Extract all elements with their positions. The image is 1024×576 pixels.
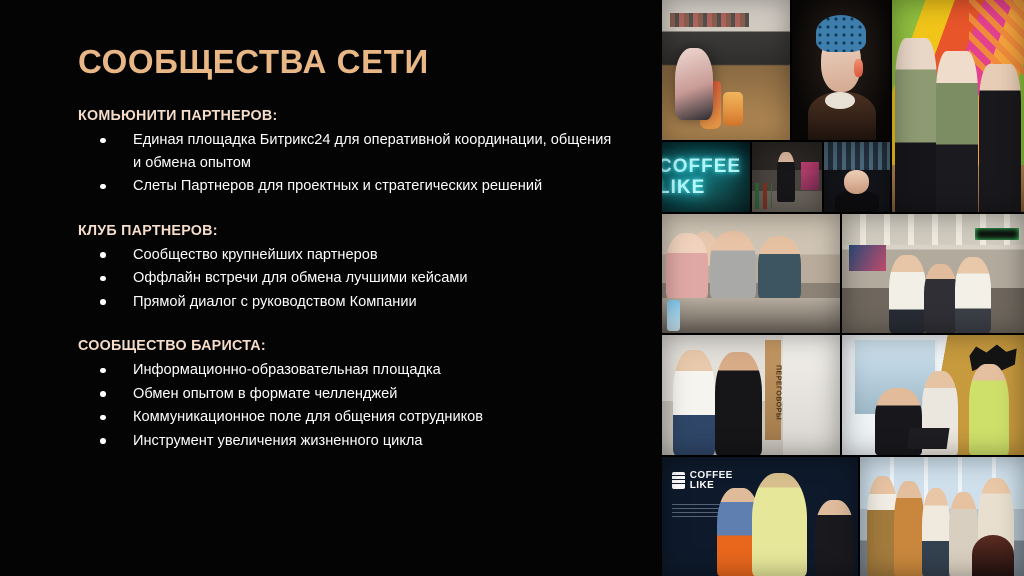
bullet-list: Сообщество крупнейших партнеров Оффлайн … — [78, 244, 636, 314]
photo-image: ПЕРЕГОВОРЫ — [662, 335, 840, 454]
logo-text-line-2: LIKE — [690, 481, 733, 491]
section-spacer — [78, 325, 636, 338]
photo-group-at-table — [662, 214, 840, 333]
photo-image: COFFEE LIKE — [662, 142, 750, 212]
list-item-text: Коммуникационное поле для общения сотруд… — [133, 409, 483, 425]
list-item-text: Информационно-образовательная площадка — [133, 362, 441, 378]
list-item-text: Слеты Партнеров для проектных и стратеги… — [133, 178, 542, 194]
photo-collage: COFFEE LIKE — [662, 0, 1024, 576]
list-item: Слеты Партнеров для проектных и стратеги… — [78, 175, 613, 198]
photo-detail — [889, 255, 925, 334]
photo-image — [892, 0, 1024, 212]
section-barista-community: СООБЩЕСТВО БАРИСТА: Информационно-образо… — [78, 338, 636, 452]
bullet-dot-icon — [100, 276, 106, 282]
photo-shop-interior — [752, 142, 822, 212]
photo-detail — [895, 38, 937, 212]
bullet-dot-icon — [100, 299, 106, 305]
photo-detail — [715, 352, 761, 455]
collage-row: COFFEE LIKE — [662, 0, 1024, 212]
laptop-icon — [906, 428, 949, 449]
photo-detail — [867, 476, 898, 576]
coffee-cup-icon — [672, 472, 685, 489]
photo-image — [662, 214, 840, 333]
list-item-text: Единая площадка Битрикс24 для оперативно… — [133, 132, 611, 171]
photo-detail — [936, 51, 978, 212]
list-item: Сообщество крупнейших партнеров — [78, 244, 613, 267]
photo-image — [792, 0, 890, 140]
photo-detail — [673, 350, 716, 455]
bullet-list: Единая площадка Битрикс24 для оперативно… — [78, 129, 636, 198]
photo-image — [824, 142, 890, 212]
list-item: Коммуникационное поле для общения сотруд… — [78, 406, 613, 429]
photo-neon-sign: COFFEE LIKE — [662, 142, 750, 212]
photo-detail — [815, 500, 854, 576]
list-item-text: Оффлайн встречи для обмена лучшими кейса… — [133, 270, 468, 286]
page-title: СООБЩЕСТВА СЕТИ — [78, 44, 636, 80]
photo-coffee-like-banner: COFFEE LIKE — [662, 457, 858, 576]
photo-detail — [670, 13, 749, 27]
photo-detail — [666, 233, 709, 300]
section-heading: КЛУБ ПАРТНЕРОВ: — [78, 223, 636, 239]
photo-image — [662, 0, 790, 140]
bullet-dot-icon — [100, 184, 106, 190]
coffee-like-logo: COFFEE LIKE — [672, 471, 733, 491]
bullet-dot-icon — [100, 438, 106, 444]
photo-networking-lanyards — [842, 214, 1024, 333]
corridor-sign-text: ПЕРЕГОВОРЫ — [765, 340, 781, 440]
section-partners-club: КЛУБ ПАРТНЕРОВ: Сообщество крупнейших па… — [78, 223, 636, 314]
neon-text-line-1: COFFEE — [662, 156, 750, 177]
photo-detail — [894, 481, 924, 576]
photo-detail — [844, 170, 869, 194]
list-item: Информационно-образовательная площадка — [78, 359, 613, 382]
list-item: Инструмент увеличения жизненного цикла — [78, 430, 613, 453]
photo-detail — [972, 535, 1015, 576]
photo-detail — [825, 92, 854, 109]
list-item: Оффлайн встречи для обмена лучшими кейса… — [78, 267, 613, 290]
collage-subrow — [662, 0, 890, 140]
neon-text-line-2: LIKE — [662, 177, 750, 198]
list-item-text: Сообщество крупнейших партнеров — [133, 247, 378, 263]
section-spacer — [78, 210, 636, 223]
section-heading: СООБЩЕСТВО БАРИСТА: — [78, 338, 636, 354]
content-pane: СООБЩЕСТВА СЕТИ КОМЬЮНИТИ ПАРТНЕРОВ: Еди… — [0, 0, 662, 576]
list-item: Единая площадка Битрикс24 для оперативно… — [78, 129, 613, 174]
photo-detail — [723, 92, 742, 126]
collage-row: COFFEE LIKE — [662, 457, 1024, 576]
photo-detail — [758, 236, 801, 300]
bullet-list: Информационно-образовательная площадка О… — [78, 359, 636, 452]
collage-row: ПЕРЕГОВОРЫ — [662, 335, 1024, 454]
photo-detail — [924, 264, 957, 333]
photo-detail — [783, 335, 840, 454]
photo-detail — [710, 231, 756, 300]
photo-detail — [752, 473, 807, 576]
list-item-text: Прямой диалог с руководством Компании — [133, 294, 417, 310]
photo-detail — [849, 245, 885, 271]
bullet-dot-icon — [100, 138, 106, 144]
logo-text: COFFEE LIKE — [690, 471, 733, 491]
photo-image — [842, 335, 1024, 454]
photo-detail — [801, 162, 819, 190]
photo-detail — [755, 183, 772, 210]
list-item: Прямой диалог с руководством Компании — [78, 291, 613, 314]
photo-portrait-headscarf — [792, 0, 890, 140]
photo-barista-competition — [892, 0, 1024, 212]
bullet-dot-icon — [100, 391, 106, 397]
photo-detail — [777, 152, 795, 202]
list-item-text: Инструмент увеличения жизненного цикла — [133, 433, 423, 449]
bullet-dot-icon — [100, 415, 106, 421]
collage-row — [662, 214, 1024, 333]
photo-person-hands-head — [824, 142, 890, 212]
photo-detail — [975, 228, 1019, 240]
slide-root: СООБЩЕСТВА СЕТИ КОМЬЮНИТИ ПАРТНЕРОВ: Еди… — [0, 0, 1024, 576]
photo-detail — [922, 488, 950, 576]
photo-detail — [667, 300, 679, 331]
section-community-partners: КОМЬЮНИТИ ПАРТНЕРОВ: Единая площадка Бит… — [78, 108, 636, 198]
photo-detail — [816, 15, 867, 51]
collage-subrow: COFFEE LIKE — [662, 142, 890, 212]
bullet-dot-icon — [100, 252, 106, 258]
photo-detail — [955, 257, 991, 333]
list-item-text: Обмен опытом в формате челленджей — [133, 386, 397, 402]
photo-detail — [824, 142, 890, 170]
photo-team-group — [860, 457, 1024, 576]
photo-image: COFFEE LIKE — [662, 457, 858, 576]
photo-cafe-counter — [662, 0, 790, 140]
photo-detail — [662, 298, 840, 334]
photo-corridor-chat: ПЕРЕГОВОРЫ — [662, 335, 840, 454]
photo-detail — [854, 59, 863, 77]
photo-office-meeting — [842, 335, 1024, 454]
section-heading: КОМЬЮНИТИ ПАРТНЕРОВ: — [78, 108, 636, 124]
photo-detail — [969, 364, 1009, 455]
photo-image — [752, 142, 822, 212]
collage-column: COFFEE LIKE — [662, 0, 890, 212]
photo-detail — [835, 191, 880, 212]
photo-detail — [979, 64, 1021, 212]
photo-image — [860, 457, 1024, 576]
photo-detail — [700, 81, 720, 129]
list-item: Обмен опытом в формате челленджей — [78, 383, 613, 406]
bullet-dot-icon — [100, 368, 106, 374]
photo-image — [842, 214, 1024, 333]
